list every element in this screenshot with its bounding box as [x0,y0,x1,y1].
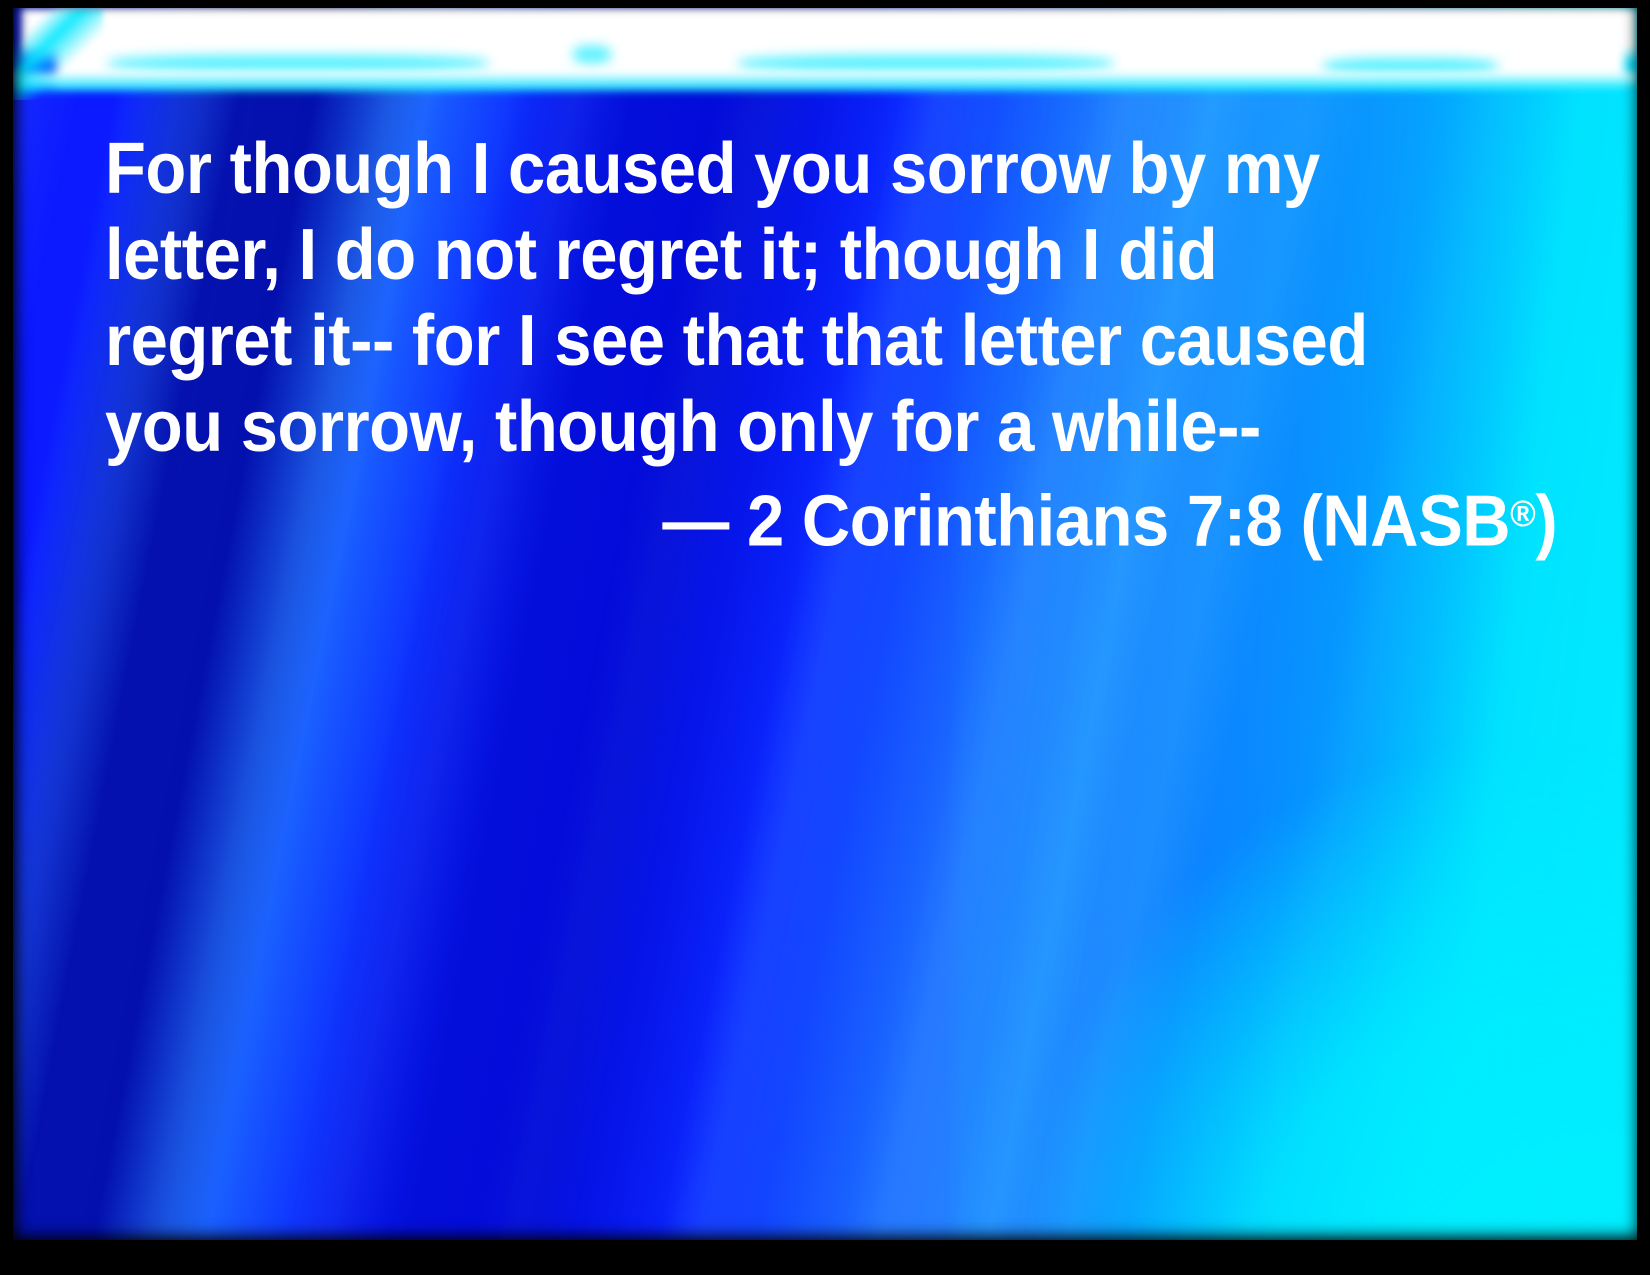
verse-attribution: — 2 Corinthians 7:8 (NASB®) [105,470,1575,564]
scripture-slide: For though I caused you sorrow by my let… [0,0,1650,1275]
registered-trademark-icon: ® [1510,492,1535,534]
verse-line-3: regret it-- for I see that that letter c… [105,298,1472,384]
top-white-bar-secondary [21,8,1637,62]
top-light-band [13,8,1637,100]
top-cyan-wisp-center-notch [573,46,611,63]
slide-canvas: For though I caused you sorrow by my let… [13,8,1637,1240]
verse-line-4: you sorrow, though only for a while-- [105,384,1472,470]
top-left-corner-bevel [13,8,103,100]
attribution-prefix: — 2 Corinthians 7:8 (NASB [662,481,1510,561]
attribution-suffix: ) [1535,481,1557,561]
verse-line-1: For though I caused you sorrow by my [105,126,1472,212]
verse-text-block: For though I caused you sorrow by my let… [105,126,1575,470]
verse-line-2: letter, I do not regret it; though I did [105,212,1472,298]
background-cyan-glow-bottom-right [1020,747,1637,1240]
top-cyan-wisp-left [108,55,488,72]
top-cyan-edge [13,72,1637,94]
attribution-line: — 2 Corinthians 7:8 (NASB®) [662,470,1557,564]
top-cyan-wisp-mid [738,55,1113,72]
